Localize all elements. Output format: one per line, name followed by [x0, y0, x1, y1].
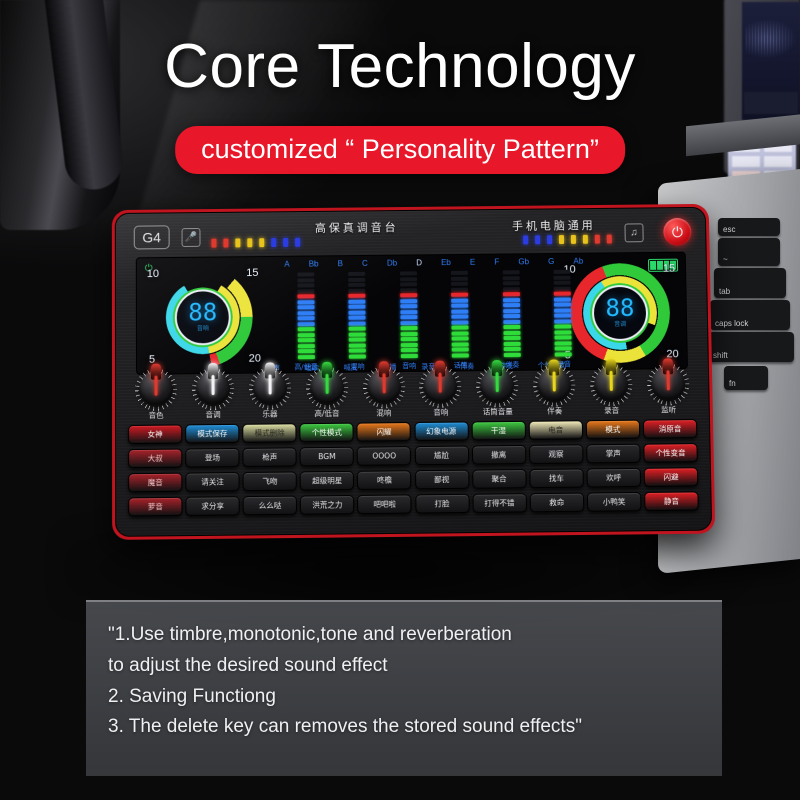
gauge-ring [173, 287, 233, 347]
gauge-tick-label: 10 [563, 264, 575, 276]
knob-pointer [382, 373, 385, 393]
knob-dial[interactable] [480, 367, 514, 401]
knob-pointer [211, 375, 214, 395]
preset-button[interactable]: 尴尬 [414, 446, 468, 466]
knob-pointer [268, 374, 271, 394]
vu-meter-segment [349, 321, 366, 325]
knob-control[interactable]: 音响 [414, 367, 467, 418]
button-column: 模式删除枪声飞吻么么哒 [242, 423, 297, 515]
gauge-ring [153, 267, 253, 368]
knob-dial[interactable] [423, 368, 457, 402]
knob-pointer [325, 374, 328, 394]
led-indicator [223, 239, 228, 248]
gauge-ring [569, 263, 671, 364]
gauge-tick-label: 10 [147, 268, 159, 280]
preset-button[interactable]: 静音 [644, 491, 699, 511]
knob-pointer [553, 371, 556, 391]
led-indicator-row-left [211, 238, 300, 248]
button-column: 闪耀OOOO咚檐吧吧啦 [357, 422, 412, 514]
vu-meter-segment [400, 299, 417, 303]
vu-meter: 话筒 [439, 271, 482, 369]
preset-button[interactable]: 撤离 [472, 445, 526, 465]
preset-button[interactable]: 登场 [185, 448, 239, 468]
preset-button[interactable]: 鄙视 [415, 470, 469, 490]
vu-meter-segment [349, 327, 366, 331]
vu-meter-segment [401, 353, 418, 357]
gauge-center-readout: 88音响 [175, 289, 231, 345]
knob-control[interactable]: 乐器 [244, 369, 296, 420]
button-column: 幻象电源尴尬鄙视打脸 [414, 421, 469, 513]
vu-meter-segment [297, 300, 314, 304]
caption-line-2: to adjust the desired sound effect [108, 651, 700, 682]
subtitle-banner: customized “ Personality Pattern” [175, 126, 625, 174]
vu-meter-group: 高/低音混响音响话筒伴奏录音 [284, 270, 585, 371]
knob-control[interactable]: 音色 [130, 370, 182, 421]
vu-meter-segment [452, 320, 469, 324]
led-indicator [535, 235, 540, 244]
preset-button[interactable]: 打脸 [415, 494, 469, 514]
vu-meter-segment [555, 341, 572, 345]
note-scale-item: Bb [309, 259, 319, 268]
preset-button-primary[interactable]: 干湿 [471, 421, 525, 441]
vu-meter-segment [400, 293, 417, 297]
gauge-tick-label: 15 [246, 267, 258, 279]
button-column: 模式掌声欢呼小鸭笑 [586, 420, 642, 512]
preset-button-primary[interactable]: 女神 [128, 424, 182, 444]
note-scale-item: E [470, 258, 475, 267]
note-scale-item: Gb [518, 257, 529, 266]
led-indicator [271, 238, 276, 247]
vu-meter-segment [348, 299, 365, 303]
vu-meter-segment [348, 277, 365, 281]
led-indicator [295, 238, 300, 247]
vu-meter-segment [503, 303, 520, 307]
vu-meter: 高/低音 [284, 272, 327, 370]
caption-panel: "1.Use timbre,monotonic,tone and reverbe… [86, 600, 722, 776]
vu-meter-segment [400, 288, 417, 292]
vu-meter-segment [503, 330, 520, 334]
vu-meter: 混响 [336, 272, 379, 370]
vu-meter-bar [554, 270, 572, 356]
preset-button[interactable]: 聚合 [472, 469, 526, 489]
preset-button[interactable]: 飞吻 [243, 471, 297, 491]
preset-button[interactable]: 魔音 [128, 473, 182, 493]
vu-meter-segment [297, 305, 314, 309]
vu-meter-segment [348, 272, 365, 276]
vu-meter-segment [452, 347, 469, 351]
vu-meter-segment [554, 270, 571, 274]
laptop-key-esc: esc [718, 218, 780, 236]
button-column: 干湿撤离聚合打得不错 [471, 421, 526, 513]
preset-button[interactable]: 找车 [529, 468, 583, 488]
vu-meter-segment [555, 313, 572, 317]
button-column: 模式保存登场请关注求分享 [185, 424, 240, 516]
knob-dial[interactable] [594, 366, 629, 400]
vu-meter-segment [400, 271, 417, 275]
laptop-key-fn: fn [724, 366, 768, 390]
gauge-tick-label: 20 [249, 353, 261, 365]
preset-button[interactable]: 闪避 [644, 467, 699, 487]
preset-button[interactable]: 么么哒 [243, 496, 297, 516]
preset-button-primary[interactable]: 电音 [528, 420, 582, 440]
led-indicator [571, 235, 576, 244]
vu-meter-segment [297, 278, 314, 282]
preset-button[interactable]: OOOO [357, 446, 411, 466]
vu-meter-segment [554, 303, 571, 307]
gauge-ring [583, 276, 658, 350]
preset-button-primary[interactable]: 个性模式 [300, 423, 354, 443]
knob-dial[interactable] [310, 369, 344, 403]
battery-icon [648, 259, 678, 272]
vu-meter-segment [297, 294, 314, 298]
note-scale-item: D [416, 258, 422, 267]
preset-button[interactable]: 洪荒之力 [300, 495, 354, 515]
vu-meter-segment [503, 319, 520, 323]
vu-meter-segment [555, 330, 572, 334]
led-indicator [583, 235, 588, 244]
caption-line-3: 2. Saving Functiong [108, 682, 700, 713]
note-scale-item: Ab [573, 257, 583, 266]
led-indicator [607, 235, 612, 244]
note-scale-item: F [494, 258, 499, 267]
music-note-icon: ♫ [624, 223, 643, 242]
vu-meter-segment [297, 316, 314, 320]
led-indicator [523, 235, 528, 244]
vu-meter-segment [451, 287, 468, 291]
laptop-key-tab: tab [714, 268, 786, 298]
knob-dial[interactable] [139, 371, 173, 405]
preset-button[interactable]: 吧吧啦 [358, 494, 412, 514]
preset-button[interactable]: 欢呼 [586, 468, 640, 488]
vu-meter-segment [400, 326, 417, 330]
vu-meter: 伴奏 [490, 270, 533, 368]
vu-meter-segment [451, 293, 468, 297]
vu-meter-segment [400, 277, 417, 281]
note-scale-item: Db [387, 259, 397, 268]
knob-row: 音色音调乐器高/低音混响音响话筒音量伴奏录音监听 [130, 365, 695, 421]
vu-meter-segment [503, 276, 520, 280]
vu-meter-segment [554, 275, 571, 279]
knob-pointer [610, 371, 613, 391]
device-right-title: 手机电脑通用 [512, 217, 596, 234]
preset-button[interactable]: BGM [300, 447, 354, 467]
note-scale-item: A [284, 260, 289, 269]
preset-button-primary[interactable]: 消原音 [643, 419, 697, 439]
vu-meter-segment [297, 272, 314, 276]
note-scale-item: Eb [441, 258, 451, 267]
vu-meter-segment [504, 347, 521, 351]
gauge-ring [153, 267, 253, 368]
vu-meter-segment [348, 283, 365, 287]
vu-meter-segment [400, 310, 417, 314]
knob-control[interactable]: 录音 [585, 366, 638, 417]
preset-button[interactable]: 请关注 [185, 472, 239, 492]
preset-button[interactable]: 大叔 [128, 449, 182, 469]
vu-meter-bar [400, 271, 418, 357]
preset-button[interactable]: 个性变音 [643, 443, 697, 463]
led-indicator [283, 238, 288, 247]
daw-cell [763, 155, 793, 168]
preset-button[interactable]: 打得不错 [472, 493, 526, 513]
led-indicator [235, 238, 240, 247]
gauge-ring [569, 263, 671, 364]
knob-control[interactable]: 高/低音 [301, 369, 353, 420]
caption-line-4: 3. The delete key can removes the stored… [108, 712, 700, 743]
knob-dial[interactable] [366, 368, 400, 402]
vu-meter-segment [451, 282, 468, 286]
preset-button[interactable]: 枪声 [243, 447, 297, 467]
sound-card-mixer-device: G4 🎤 ♫ ⏻ 高保真调音台 手机电脑通用 ⏻ ABbBCDbDEbEFGbG… [112, 204, 715, 540]
vu-meter-segment [400, 282, 417, 286]
vu-meter-segment [451, 304, 468, 308]
vu-meter-segment [297, 355, 314, 359]
vu-meter-segment [503, 298, 520, 302]
knob-pointer [666, 370, 669, 390]
note-scale-item: B [338, 259, 343, 268]
gauge-ring [590, 283, 651, 343]
knob-pointer [496, 372, 499, 392]
vu-meter-segment [452, 331, 469, 335]
vu-meter-segment [503, 341, 520, 345]
vu-meter-segment [400, 304, 417, 308]
vu-meter-segment [503, 309, 520, 313]
vu-meter-segment [555, 352, 572, 356]
gauge-sublabel: 音响 [197, 324, 209, 333]
preset-button[interactable]: 萝音 [128, 497, 182, 517]
vu-meter-segment [400, 348, 417, 352]
vu-meter-segment [297, 322, 314, 326]
vu-meter-bar [348, 272, 366, 358]
gauge-digits: 88 [605, 298, 634, 320]
preset-button[interactable]: 求分享 [186, 496, 240, 516]
vu-meter-segment [555, 308, 572, 312]
vu-meter-segment [554, 281, 571, 285]
device-body: G4 🎤 ♫ ⏻ 高保真调音台 手机电脑通用 ⏻ ABbBCDbDEbEFGbG… [115, 207, 712, 537]
page-title: Core Technology [0, 36, 800, 98]
button-column: 女神大叔魔音萝音 [128, 424, 182, 516]
vu-meter-segment [452, 353, 469, 357]
vu-meter-segment [297, 311, 314, 315]
knob-dial[interactable] [253, 369, 287, 403]
button-column: 电音观察找车救命 [528, 420, 584, 512]
vu-meter-segment [400, 342, 417, 346]
note-scale-item: C [362, 259, 368, 268]
vu-meter-segment [554, 297, 571, 301]
product-promo-image: esc ~ tab caps lock shift fn Core Techno… [0, 0, 800, 800]
knob-dial[interactable] [537, 366, 572, 400]
preset-button[interactable]: 观察 [529, 444, 583, 464]
knob-control[interactable]: 伴奏 [528, 366, 581, 417]
vu-meter: 录音 [541, 270, 584, 368]
preset-button[interactable]: 超级明星 [300, 471, 354, 491]
vu-meter-segment [400, 315, 417, 319]
led-indicator [247, 238, 252, 247]
button-column: 个性模式BGM超级明星洪荒之力 [300, 423, 355, 515]
preset-button[interactable]: 掌声 [586, 444, 640, 464]
led-indicator-row-right [523, 235, 612, 245]
vu-meter-segment [555, 346, 572, 350]
vu-meter-segment [349, 343, 366, 347]
note-scale-strip: ABbBCDbDEbEFGbGAb [284, 257, 583, 269]
button-column: 消原音个性变音闪避静音 [643, 419, 699, 511]
vu-meter-segment [555, 335, 572, 339]
gauge-sublabel: 音调 [614, 319, 626, 328]
vu-meter-segment [400, 337, 417, 341]
gauge-center-readout: 88音调 [592, 285, 649, 341]
vu-meter-segment [349, 305, 366, 309]
gauge-tick-label: 15 [663, 263, 675, 275]
vu-meter-segment [348, 288, 365, 292]
knob-control[interactable]: 话筒音量 [471, 367, 524, 418]
lcd-display-panel: ⏻ ABbBCDbDEbEFGbGAb 101552088音响 15102058… [136, 252, 688, 375]
right-gauge: 151020588音调 [559, 261, 681, 366]
vu-meter-segment [297, 349, 314, 353]
vu-meter-bar [503, 270, 521, 356]
vu-meter-segment [297, 289, 314, 293]
vu-meter-segment [554, 286, 571, 290]
model-badge: G4 [134, 225, 170, 249]
microphone-icon: 🎤 [182, 228, 201, 247]
vu-meter: 音响 [387, 271, 430, 369]
gauge-digits: 88 [188, 302, 217, 324]
led-indicator [259, 238, 264, 247]
vu-meter-segment [452, 325, 469, 329]
preset-button-primary[interactable]: 幻象电源 [414, 421, 468, 441]
preset-button-primary[interactable]: 闪耀 [357, 422, 411, 442]
knob-dial[interactable] [196, 370, 230, 404]
vu-meter-segment [297, 333, 314, 337]
caption-line-1: "1.Use timbre,monotonic,tone and reverbe… [108, 620, 700, 651]
vu-meter-segment [349, 354, 366, 358]
vu-meter-segment [503, 336, 520, 340]
vu-meter-segment [349, 349, 366, 353]
preset-button-primary[interactable]: 模式保存 [185, 424, 239, 444]
vu-meter-segment [400, 321, 417, 325]
vu-meter-segment [503, 281, 520, 285]
power-button[interactable]: ⏻ [663, 218, 691, 246]
gauge-ring [166, 280, 240, 354]
knob-control[interactable]: 混响 [357, 368, 410, 419]
vu-meter-segment [554, 292, 571, 296]
vu-meter-segment [349, 332, 366, 336]
vu-meter-segment [503, 270, 520, 274]
vu-meter-segment [297, 344, 314, 348]
vu-meter-segment [348, 294, 365, 298]
vu-meter-segment [297, 338, 314, 342]
vu-meter-segment [349, 310, 366, 314]
vu-meter-segment [504, 352, 521, 356]
gauge-ring [153, 267, 253, 368]
preset-button[interactable]: 咚檐 [357, 470, 411, 490]
vu-meter-segment [452, 336, 469, 340]
laptop-key-tilde: ~ [718, 238, 780, 266]
button-grid: 女神大叔魔音萝音模式保存登场请关注求分享模式删除枪声飞吻么么哒个性模式BGM超级… [128, 419, 699, 516]
vu-meter-segment [452, 315, 469, 319]
preset-button-primary[interactable]: 模式 [586, 420, 640, 440]
vu-meter-segment [349, 316, 366, 320]
knob-pointer [439, 373, 442, 393]
vu-meter-segment [555, 324, 572, 328]
vu-meter-segment [503, 292, 520, 296]
note-scale-item: G [548, 257, 554, 266]
led-indicator [559, 235, 564, 244]
vu-meter-segment [349, 338, 366, 342]
bluetooth-icon: ⏻ [145, 263, 153, 274]
vu-meter-segment [451, 276, 468, 280]
led-indicator [595, 235, 600, 244]
knob-control[interactable]: 监听 [642, 365, 695, 416]
device-left-title: 高保真调音台 [315, 219, 399, 236]
preset-button[interactable]: 救命 [530, 493, 585, 513]
knob-dial[interactable] [651, 365, 686, 399]
daw-cell [731, 155, 761, 168]
vu-meter-segment [503, 287, 520, 291]
gauge-ring [166, 280, 240, 354]
vu-meter-segment [555, 319, 572, 323]
preset-button-primary[interactable]: 模式删除 [242, 423, 296, 443]
vu-meter-segment [451, 271, 468, 275]
vu-meter-bar [297, 272, 315, 358]
vu-meter-bar [451, 271, 469, 357]
vu-meter-segment [503, 325, 520, 329]
led-indicator [211, 239, 216, 248]
left-gauge: 101552088音响 [143, 265, 263, 370]
led-indicator [547, 235, 552, 244]
laptop-key-shift: shift [708, 332, 794, 362]
preset-button[interactable]: 小鸭笑 [587, 492, 642, 512]
vu-meter-segment [452, 309, 469, 313]
vu-meter-segment [503, 314, 520, 318]
vu-meter-segment [452, 342, 469, 346]
vu-meter-segment [297, 327, 314, 331]
gauge-ring [569, 263, 671, 364]
knob-control[interactable]: 音调 [187, 370, 239, 421]
vu-meter-segment [451, 298, 468, 302]
knob-pointer [154, 376, 157, 396]
vu-meter-segment [297, 283, 314, 287]
device-top-bar: G4 🎤 ♫ ⏻ 高保真调音台 手机电脑通用 [116, 212, 706, 258]
gauge-ring [583, 276, 658, 350]
laptop-key-caps-lock: caps lock [710, 300, 790, 330]
vu-meter-segment [400, 332, 417, 336]
